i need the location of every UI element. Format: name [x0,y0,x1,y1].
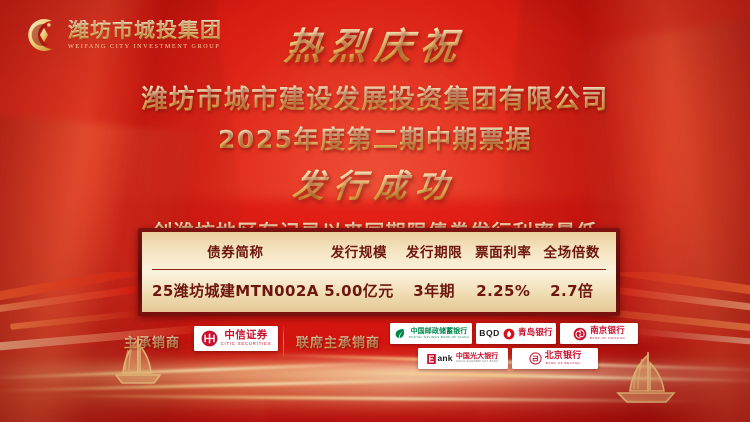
logo-postal-savings-bank: 中国邮政储蓄银行 POSTAL SAVINGS BANK OF CHINA [390,323,472,344]
table-header-row: 债券简称 发行规模 发行期限 票面利率 全场倍数 [152,232,606,270]
col-header-bond-name: 债券简称 [152,232,319,270]
logo-bank-of-nanjing: 南京银行 BANK OF NANJING [560,323,638,344]
headline-block: 热烈庆祝 潍坊市城市建设发展投资集团有限公司 2025年度第二期中期票据 发行成… [0,16,750,245]
col-header-coupon-rate: 票面利率 [469,232,537,270]
logo-bank-of-qingdao: BQD 青岛银行 [476,323,556,344]
headline-company: 潍坊市城市建设发展投资集团有限公司 [0,79,750,116]
cell-issue-size: 5.00亿元 [319,270,399,313]
logo-everbright-en: CHINA EVERBRIGHT BANK [456,361,499,364]
joint-underwriter-label: 联席主承销商 [296,332,380,351]
table-row: 25潍坊城建MTN002A 5.00亿元 3年期 2.25% 2.7倍 [152,270,606,313]
col-header-subscription-multiple: 全场倍数 [538,232,606,270]
logo-beijing-cn: 北京银行 [545,352,582,361]
cell-subscription-multiple: 2.7倍 [538,270,606,313]
logo-citic-securities: 中信证券 CITIC SECURITIES [194,326,278,351]
headline-issue: 2025年度第二期中期票据 [0,120,750,156]
headline-success: 发行成功 [290,161,460,207]
bond-table: 债券简称 发行规模 发行期限 票面利率 全场倍数 25潍坊城建MTN002A 5… [152,232,606,312]
headline-celebrate: 热烈庆祝 [282,16,468,70]
underwriters-section: 主承销商 联席主承销商 中信证券 CITIC SECURITIES [0,322,750,382]
underwriter-divider [283,324,284,360]
logo-bqd-en: BQD [479,329,500,338]
logo-citic-cn: 中信证券 [224,330,267,341]
beijing-ring-icon [529,352,542,365]
psbc-leaf-icon [393,327,406,340]
logo-nanjing-cn: 南京银行 [590,327,625,336]
logo-beijing-en: BANK OF BEIJING [546,362,581,365]
col-header-issue-size: 发行规模 [319,232,399,270]
logo-citic-en: CITIC SECURITIES [221,342,272,346]
logo-nanjing-en: BANK OF NANJING [590,337,626,340]
logo-china-everbright-bank: ank 中国光大银行 CHINA EVERBRIGHT BANK [418,348,508,369]
logo-bqd-cn: 青岛银行 [518,329,553,338]
logo-psbc-cn: 中国邮政储蓄银行 [411,328,468,335]
logo-psbc-en: POSTAL SAVINGS BANK OF CHINA [409,336,469,339]
bond-table-frame: 债券简称 发行规模 发行期限 票面利率 全场倍数 25潍坊城建MTN002A 5… [138,228,620,316]
col-header-issue-term: 发行期限 [399,232,469,270]
logo-everbright-cn: 中国光大银行 [456,353,499,360]
bqd-drop-icon [503,328,515,340]
celebration-banner: 潍坊市城投集团 WEIFANG CITY INVESTMENT GROUP 热烈… [0,0,750,422]
everbright-e-icon: ank [427,354,452,364]
cell-bond-name: 25潍坊城建MTN002A [152,270,319,313]
cell-issue-term: 3年期 [399,270,469,313]
logo-bank-of-beijing: 北京银行 BANK OF BEIJING [512,348,598,369]
nanjing-spiral-icon [573,327,587,341]
lead-underwriter-label: 主承销商 [124,332,180,351]
cell-coupon-rate: 2.25% [469,270,537,313]
citic-seal-icon [201,330,218,347]
